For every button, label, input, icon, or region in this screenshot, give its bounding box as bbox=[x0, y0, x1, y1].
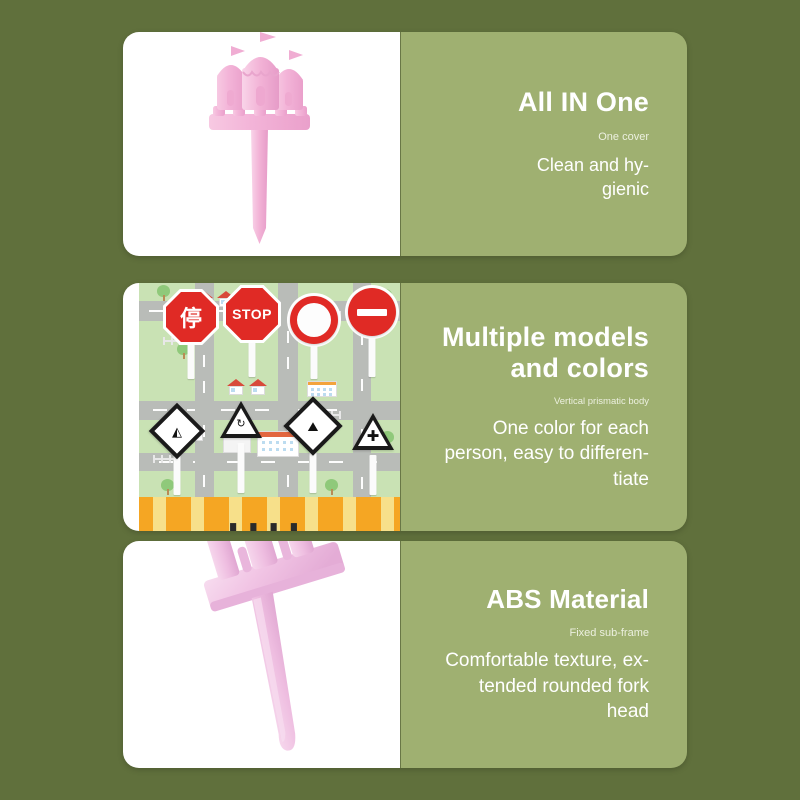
sign-glyph-roadworks: ⛰ bbox=[296, 409, 330, 443]
sign-roundabout: ↻ bbox=[217, 395, 265, 493]
sign-glyph-slippery: ◭ bbox=[161, 415, 193, 447]
product-infographic: All IN One One cover Clean and hy- gieni… bbox=[0, 0, 800, 800]
feature-body: Clean and hy- gienic bbox=[537, 153, 649, 201]
product-photo-traffic-signs: 停 STOP bbox=[123, 283, 400, 531]
feature-title: ABS Material bbox=[486, 584, 649, 614]
building-icon bbox=[307, 381, 337, 397]
card-seam bbox=[400, 32, 401, 256]
feature-card-abs-material: ABS Material Fixed sub-frame Comfortable… bbox=[123, 541, 687, 768]
mat-strip-text: ▮▮▮▮ bbox=[139, 519, 400, 531]
sign-glyph-ting: 停 bbox=[166, 292, 216, 342]
product-photo-tilted-fork bbox=[123, 541, 400, 768]
play-mat-illustration: 停 STOP bbox=[139, 283, 400, 531]
sign-crossroads: ✚ bbox=[349, 409, 397, 495]
feature-card-multiple-models: 停 STOP bbox=[123, 283, 687, 531]
product-photo-castle-fork bbox=[123, 32, 400, 256]
sign-stop-chinese: 停 bbox=[163, 289, 219, 379]
card-seam bbox=[400, 283, 401, 531]
feature-text-all-in-one: All IN One One cover Clean and hy- gieni… bbox=[400, 32, 687, 256]
tilted-fork-svg bbox=[123, 541, 400, 768]
house-icon bbox=[227, 379, 245, 395]
sign-no-entry bbox=[345, 285, 399, 377]
tilted-fork-illustration bbox=[123, 541, 400, 768]
feature-text-multiple-models: Multiple models and colors Vertical pris… bbox=[400, 283, 687, 531]
mat-bottom-strip: ▮▮▮▮ bbox=[139, 497, 400, 531]
feature-body: Comfortable texture, ex- tended rounded … bbox=[445, 648, 649, 724]
feature-subtitle: Vertical prismatic body bbox=[554, 396, 649, 407]
sign-blank-circle bbox=[287, 293, 341, 379]
sign-slippery-road: ◭ bbox=[153, 405, 201, 495]
feature-subtitle: Fixed sub-frame bbox=[570, 627, 649, 640]
castle-fork-illustration bbox=[123, 32, 400, 256]
card-seam bbox=[400, 541, 401, 768]
sign-roadworks: ⛰ bbox=[287, 399, 339, 493]
feature-card-all-in-one: All IN One One cover Clean and hy- gieni… bbox=[123, 32, 687, 256]
feature-subtitle: One cover bbox=[598, 131, 649, 144]
feature-text-abs-material: ABS Material Fixed sub-frame Comfortable… bbox=[400, 541, 687, 768]
feature-title: All IN One bbox=[518, 87, 649, 118]
house-icon bbox=[249, 379, 267, 395]
castle-fork-svg bbox=[123, 32, 400, 256]
feature-title: Multiple models and colors bbox=[422, 322, 649, 385]
sign-glyph-roundabout: ↻ bbox=[236, 419, 245, 430]
feature-body: One color for each person, easy to diffe… bbox=[444, 416, 649, 492]
sign-stop-english: STOP bbox=[223, 285, 281, 377]
sign-glyph-cross: ✚ bbox=[367, 429, 380, 444]
